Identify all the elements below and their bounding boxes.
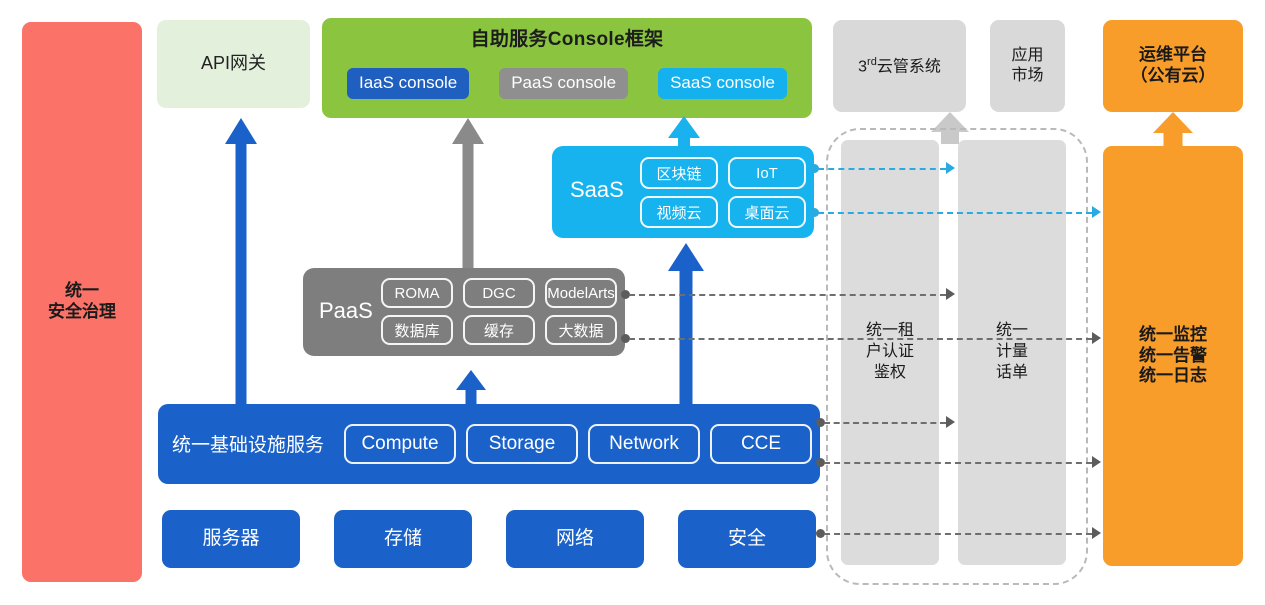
infrastructure-block: 统一基础设施服务 Compute Storage Network CCE <box>158 404 820 484</box>
console-chip-paas[interactable]: PaaS console <box>499 68 628 99</box>
hardware-server-block: 服务器 <box>162 510 300 568</box>
third-party-cloud-mgmt-block: 3rd云管系统 <box>833 20 966 112</box>
infrastructure-item-compute[interactable]: Compute <box>344 424 456 464</box>
app-market-block: 应用 市场 <box>990 20 1065 112</box>
infrastructure-item-cce[interactable]: CCE <box>710 424 812 464</box>
architecture-diagram: 统一 安全治理 API网关 自助服务Console框架 IaaS console… <box>0 0 1265 605</box>
saas-block-label: SaaS <box>570 177 624 203</box>
shared-service-auth-column: 统一租 户认证 鉴权 <box>841 140 939 565</box>
hardware-security-label: 安全 <box>728 527 766 550</box>
ops-platform-right-label: 统一监控 统一告警 统一日志 <box>1139 325 1207 387</box>
saas-item-video-cloud[interactable]: 视频云 <box>640 196 718 228</box>
ops-platform-right-block: 统一监控 统一告警 统一日志 <box>1103 146 1243 566</box>
paas-item-modelarts[interactable]: ModelArts <box>545 278 617 308</box>
arrow-infra-to-saas <box>668 243 704 409</box>
connector-hardware-to-ops <box>824 533 1092 535</box>
connector-arrowhead-infra-auth <box>946 416 955 428</box>
infrastructure-label: 统一基础设施服务 <box>172 430 324 457</box>
shared-service-metering-label: 统一 计量 话单 <box>996 321 1028 383</box>
paas-block-label: PaaS <box>319 298 373 324</box>
arrow-infra-to-api-gateway <box>225 118 257 408</box>
api-gateway-block: API网关 <box>157 20 310 108</box>
connector-saas-to-auth <box>818 168 946 170</box>
console-framework-block: 自助服务Console框架 IaaS console PaaS console … <box>322 18 812 118</box>
connector-infra-to-auth <box>824 422 946 424</box>
ops-platform-top-block: 运维平台 （公有云） <box>1103 20 1243 112</box>
arrow-paas-to-console <box>452 118 484 268</box>
security-governance-label: 统一 安全治理 <box>48 281 116 322</box>
hardware-storage-block: 存储 <box>334 510 472 568</box>
saas-block: SaaS 区块链 IoT 视频云 桌面云 <box>552 146 814 238</box>
console-framework-title: 自助服务Console框架 <box>471 28 664 51</box>
hardware-server-label: 服务器 <box>202 527 259 550</box>
third-party-cloud-mgmt-label: 3rd云管系统 <box>858 56 941 77</box>
connector-paas-to-auth <box>629 294 946 296</box>
ops-platform-top-label: 运维平台 （公有云） <box>1131 45 1216 86</box>
connector-arrowhead-paas-auth <box>946 288 955 300</box>
hardware-network-label: 网络 <box>556 527 594 550</box>
app-market-label: 应用 市场 <box>1011 46 1043 85</box>
connector-arrowhead-saas-ops <box>1092 206 1101 218</box>
infrastructure-item-storage[interactable]: Storage <box>466 424 578 464</box>
infrastructure-item-network[interactable]: Network <box>588 424 700 464</box>
shared-service-metering-column: 统一 计量 话单 <box>958 140 1066 565</box>
api-gateway-label: API网关 <box>201 53 266 75</box>
paas-item-database[interactable]: 数据库 <box>381 315 453 345</box>
connector-arrowhead-paas-ops <box>1092 332 1101 344</box>
console-chip-saas[interactable]: SaaS console <box>658 68 787 99</box>
shared-service-auth-label: 统一租 户认证 鉴权 <box>866 321 914 383</box>
connector-saas-to-ops <box>818 212 1092 214</box>
paas-item-roma[interactable]: ROMA <box>381 278 453 308</box>
connector-arrowhead-infra-ops <box>1092 456 1101 468</box>
saas-item-desktop-cloud[interactable]: 桌面云 <box>728 196 806 228</box>
paas-item-cache[interactable]: 缓存 <box>463 315 535 345</box>
paas-item-dgc[interactable]: DGC <box>463 278 535 308</box>
hardware-network-block: 网络 <box>506 510 644 568</box>
security-governance-block: 统一 安全治理 <box>22 22 142 582</box>
paas-item-bigdata[interactable]: 大数据 <box>545 315 617 345</box>
console-chip-row: IaaS console PaaS console SaaS console <box>322 68 812 99</box>
saas-item-blockchain[interactable]: 区块链 <box>640 157 718 189</box>
hardware-storage-label: 存储 <box>384 527 422 550</box>
arrow-infra-to-paas <box>455 370 487 406</box>
connector-paas-to-ops <box>629 338 1092 340</box>
saas-item-iot[interactable]: IoT <box>728 157 806 189</box>
connector-arrowhead-hardware-ops <box>1092 527 1101 539</box>
console-chip-iaas[interactable]: IaaS console <box>347 68 469 99</box>
hardware-security-block: 安全 <box>678 510 816 568</box>
connector-arrowhead-saas-auth <box>946 162 955 174</box>
arrow-to-ops-platform-top <box>1152 112 1194 146</box>
connector-infra-to-ops <box>824 462 1092 464</box>
paas-block: PaaS ROMA DGC ModelArts 数据库 缓存 大数据 <box>303 268 625 356</box>
